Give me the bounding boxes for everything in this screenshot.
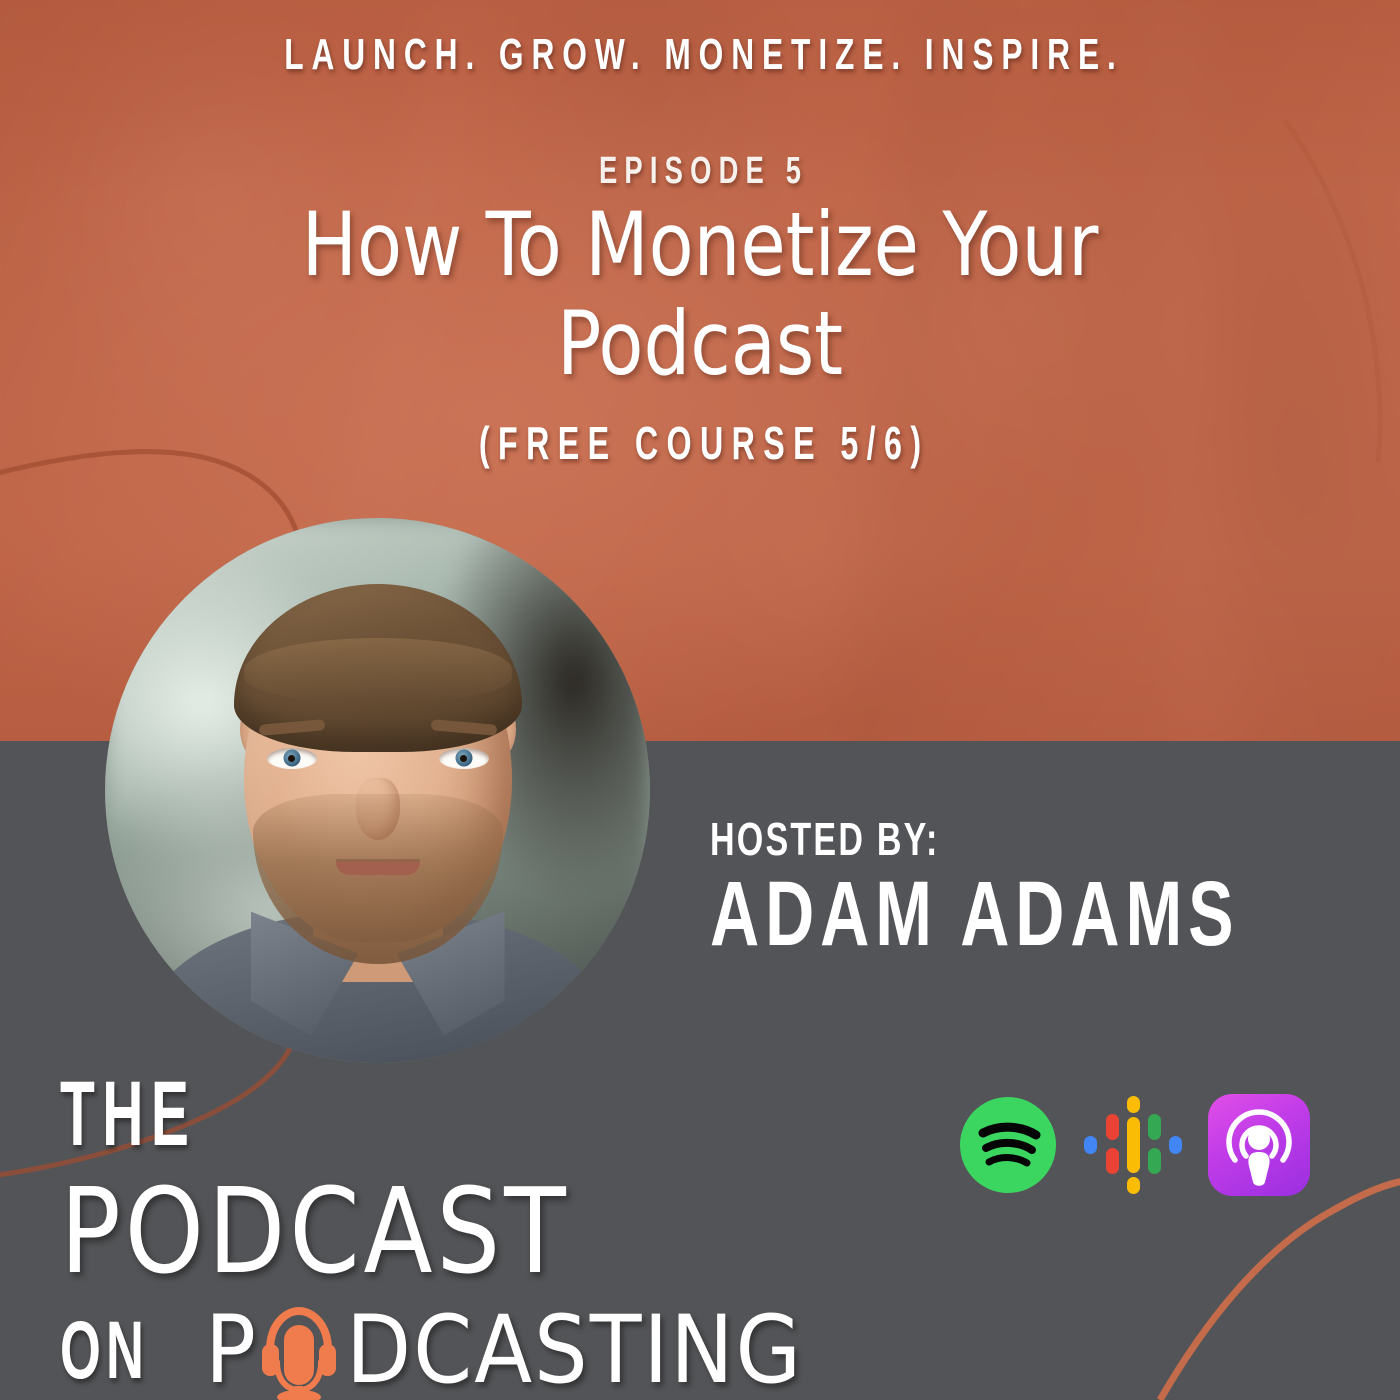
course-subtitle: (FREE COURSE 5/6) [210,420,1190,466]
brand-on-podcasting-row: ON P DCASTING [60,1304,803,1398]
podcast-cover-art: LAUNCH. GROW. MONETIZE. INSPIRE. EPISODE… [0,0,1400,1400]
avatar-eye-right [439,748,489,769]
host-avatar [105,518,650,1063]
host-name: ADAM ADAMS [710,868,1239,960]
brand-the: THE [60,1068,521,1160]
hosted-by-label: HOSTED BY: [710,816,940,862]
spotify-icon[interactable] [960,1097,1056,1193]
episode-title-line-2: Podcast [123,295,1276,394]
episode-label: EPISODE 5 [196,152,1204,190]
microphone-headphones-icon [256,1304,342,1400]
platform-badges [960,1092,1310,1198]
brand-podcast: PODCAST [60,1172,766,1290]
apple-podcasts-icon[interactable] [1208,1094,1310,1196]
avatar-mouth [336,862,420,875]
avatar-eye-left [267,748,317,769]
tagline: LAUNCH. GROW. MONETIZE. INSPIRE. [196,33,1204,77]
google-podcasts-icon[interactable] [1082,1092,1182,1198]
brand-podcasting-suffix: DCASTING [346,1304,803,1398]
brand-logo: THE PODCAST ON P [60,1068,803,1398]
avatar-nose [356,778,400,840]
brand-on: ON [60,1310,149,1392]
brand-podcasting-p: P [205,1304,258,1398]
episode-title: How To Monetize Your Podcast [80,196,1320,393]
episode-title-line-1: How To Monetize Your [123,196,1276,295]
avatar-face [163,526,593,1056]
